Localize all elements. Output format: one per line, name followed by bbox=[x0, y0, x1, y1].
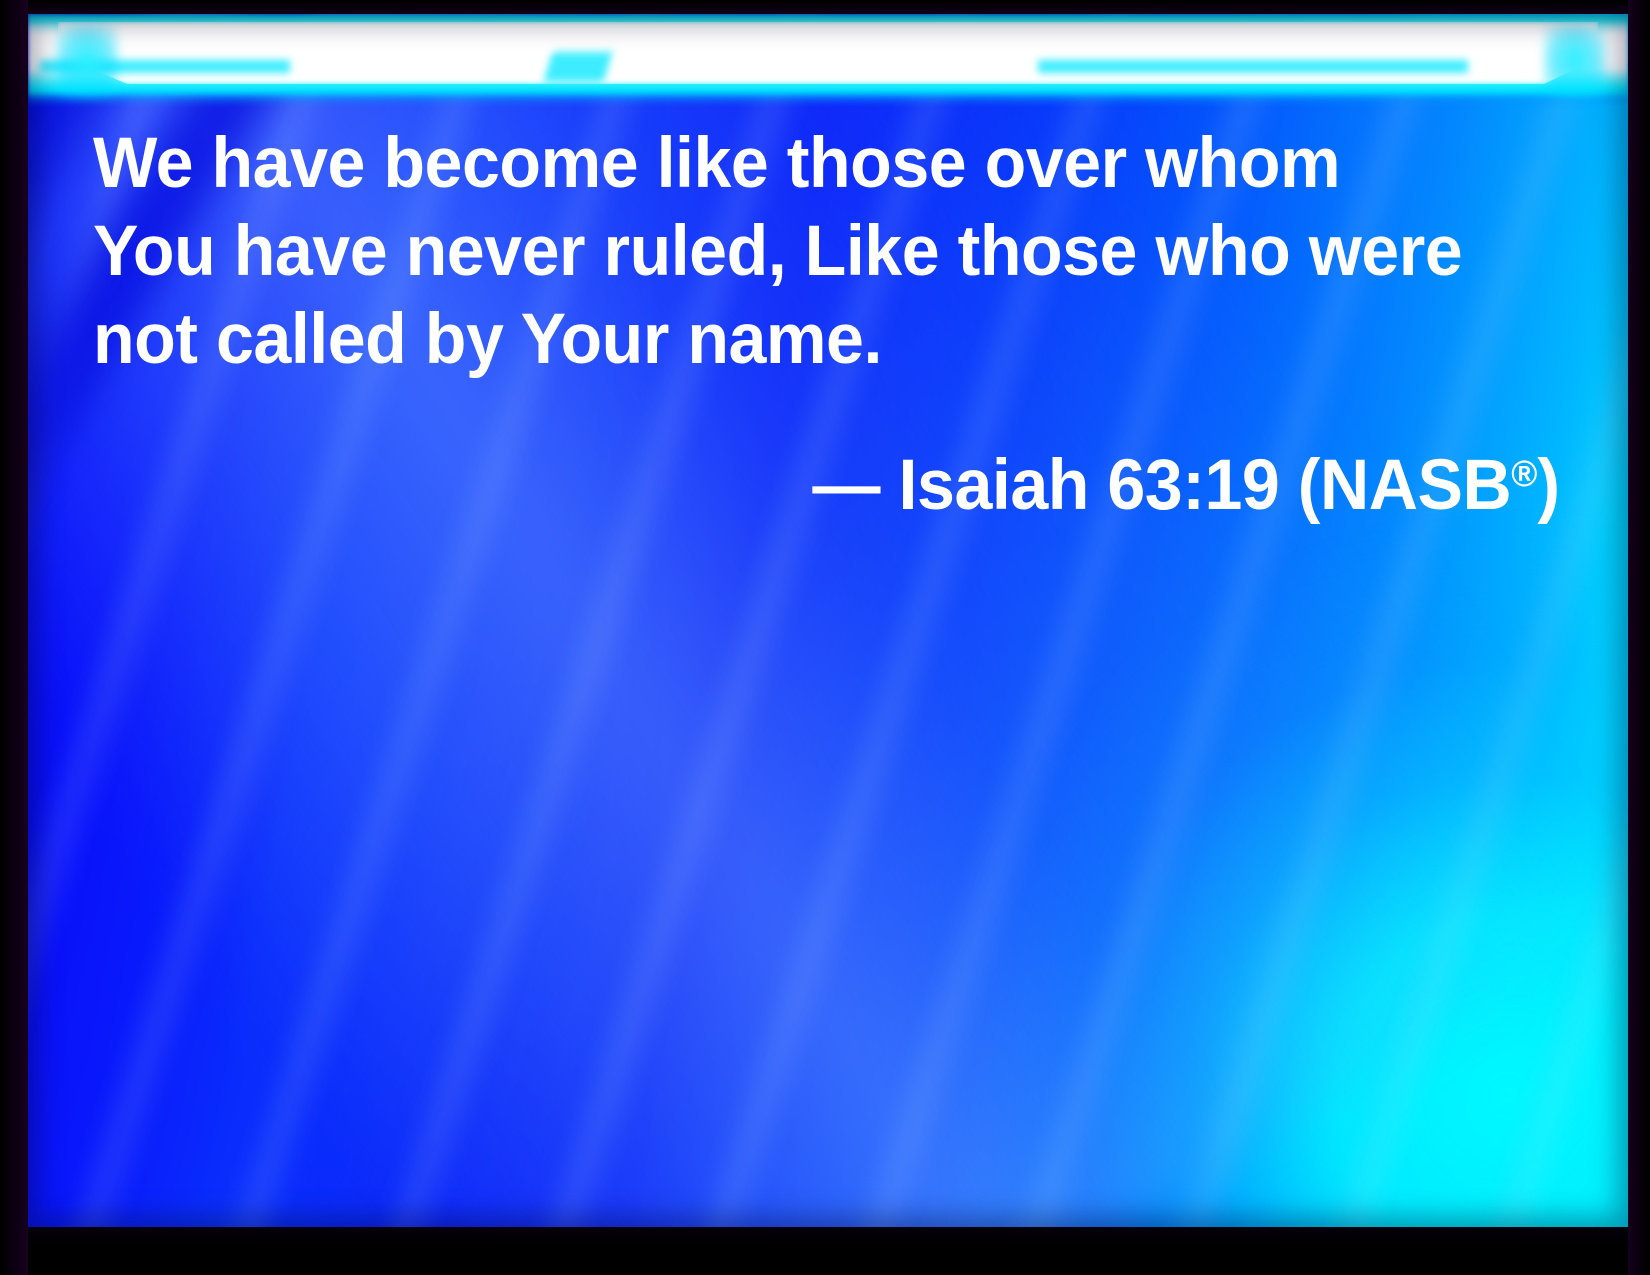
top-highlight-white-core bbox=[58, 22, 1598, 84]
verse-line-3: not called by Your name. bbox=[93, 296, 1514, 384]
verse-text-block: We have become like those over whom You … bbox=[93, 120, 1573, 530]
verse-line-2: You have never ruled, Like those who wer… bbox=[93, 208, 1514, 296]
attribution-book: Isaiah bbox=[899, 446, 1089, 525]
verse-attribution: — Isaiah 63:19 (NASB®) bbox=[152, 430, 1573, 530]
attribution-reference: 63:19 bbox=[1107, 446, 1279, 525]
attribution-em-dash: — bbox=[812, 446, 880, 525]
attribution-translation: (NASB bbox=[1298, 446, 1511, 525]
top-highlight-corner-right bbox=[1544, 24, 1606, 98]
frame-border-top bbox=[0, 0, 1650, 14]
registered-trademark-icon: ® bbox=[1511, 453, 1537, 494]
top-highlight-corner-left bbox=[56, 24, 118, 98]
top-highlight-cyan-notch bbox=[544, 52, 613, 82]
frame-border-left bbox=[0, 0, 28, 1275]
top-highlight-cyan-tongue-right bbox=[1038, 60, 1468, 73]
attribution-close-paren: ) bbox=[1537, 446, 1559, 525]
scripture-slide: We have become like those over whom You … bbox=[0, 0, 1650, 1275]
slide-canvas: We have become like those over whom You … bbox=[28, 14, 1628, 1227]
frame-border-right bbox=[1628, 0, 1650, 1275]
frame-border-bottom bbox=[0, 1227, 1650, 1275]
verse-line-1: We have become like those over whom bbox=[93, 120, 1514, 208]
